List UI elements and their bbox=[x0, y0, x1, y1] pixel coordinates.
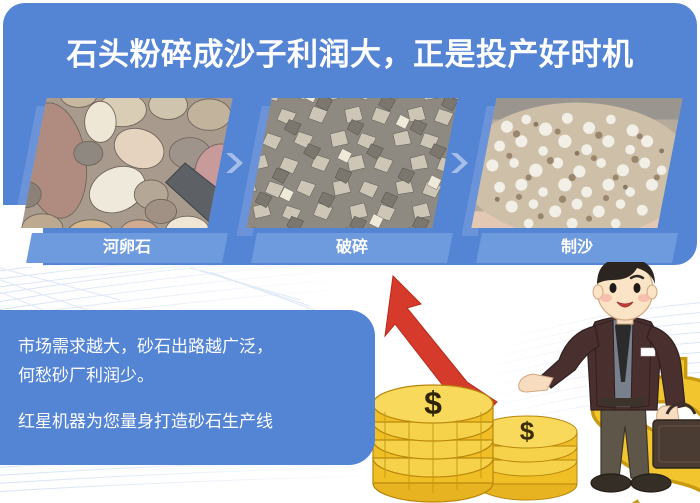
process-step-label-3: 制沙 bbox=[476, 233, 678, 263]
value-prop-text: 市场需求越大，砂石出路越广泛， 何愁砂厂利润少。 红星机器为您量身打造砂石生产线 bbox=[18, 332, 368, 436]
process-step-label-1: 河卵石 bbox=[26, 233, 228, 263]
blurb-line-1: 市场需求越大，砂石出路越广泛， bbox=[18, 332, 368, 361]
process-step-sand[interactable] bbox=[484, 98, 670, 228]
pebbles-photo bbox=[21, 98, 232, 228]
money-growth-illustration: $ bbox=[355, 262, 700, 503]
step-label-text: 破碎 bbox=[254, 233, 450, 263]
gravel-photo bbox=[246, 98, 457, 228]
chevron-right-icon bbox=[222, 150, 248, 176]
process-step-pebbles[interactable] bbox=[34, 98, 220, 228]
blurb-line-3: 红星机器为您量身打造砂石生产线 bbox=[18, 407, 368, 436]
blurb-line-2: 何愁砂厂利润少。 bbox=[18, 361, 368, 390]
process-flow: 河卵石 bbox=[0, 98, 700, 268]
page-title: 石头粉碎成沙子利润大，正是投产好时机 bbox=[0, 29, 700, 74]
step-label-text: 制沙 bbox=[479, 233, 675, 263]
svg-text:$: $ bbox=[424, 385, 442, 421]
poster-canvas: 石头粉碎成沙子利润大，正是投产好时机 bbox=[0, 0, 700, 503]
coin-stack-icon: $ bbox=[373, 385, 493, 502]
process-step-crushing[interactable] bbox=[259, 98, 445, 228]
svg-text:$: $ bbox=[520, 416, 535, 446]
process-step-label-2: 破碎 bbox=[251, 233, 453, 263]
sand-photo bbox=[471, 98, 682, 228]
chevron-right-icon bbox=[447, 150, 473, 176]
step-label-text: 河卵石 bbox=[29, 233, 225, 263]
